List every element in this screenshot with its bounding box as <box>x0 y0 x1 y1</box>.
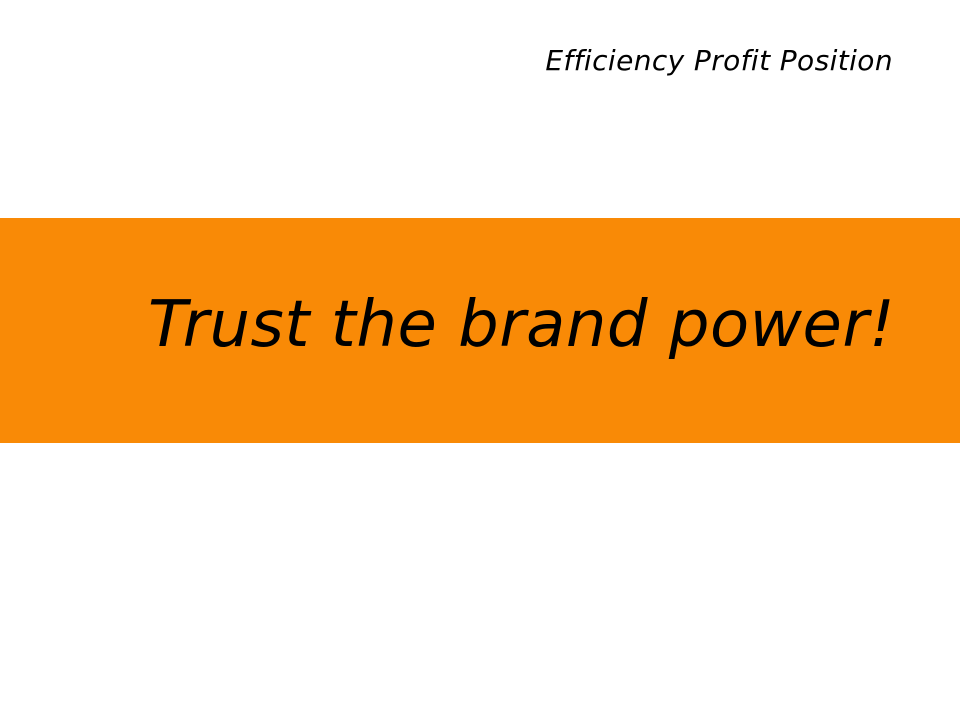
page-title: Efficiency Profit Position <box>0 44 893 78</box>
slide-canvas: Efficiency Profit Position Trust the bra… <box>0 0 960 720</box>
banner-headline: Trust the brand power! <box>148 212 895 437</box>
highlight-banner: Trust the brand power! <box>0 218 960 443</box>
slide-body-area <box>0 443 960 720</box>
